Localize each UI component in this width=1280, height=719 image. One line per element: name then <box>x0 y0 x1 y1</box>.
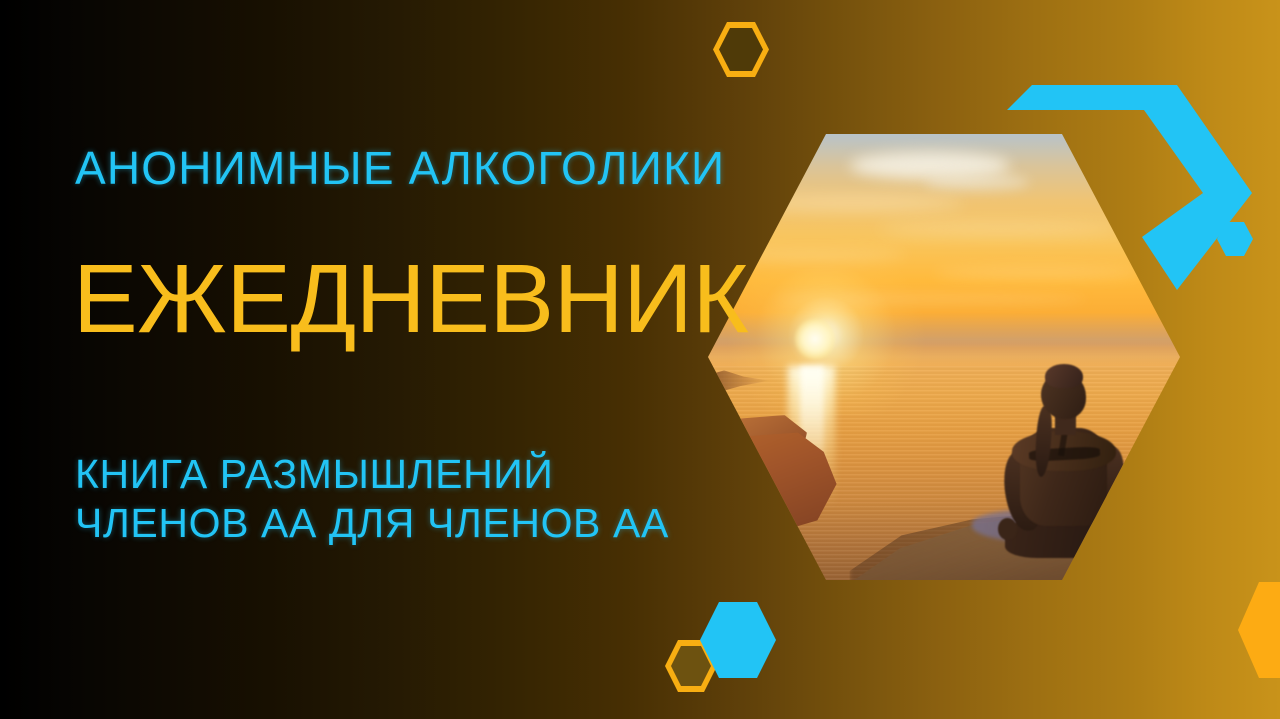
figure-hand <box>998 518 1017 540</box>
page-title: ЕЖЕДНЕВНИК <box>73 250 748 347</box>
poster-eyebrow: АНОНИМНЫЕ АЛКОГОЛИКИ <box>75 141 725 195</box>
poster-subtitle: КНИГА РАЗМЫШЛЕНИЙ ЧЛЕНОВ АА ДЛЯ ЧЛЕНОВ А… <box>75 450 669 548</box>
hexagon-outline-icon-top <box>713 22 769 77</box>
hexagon-icon-orange-right <box>1238 582 1280 678</box>
poster-canvas: АНОНИМНЫЕ АЛКОГОЛИКИ ЕЖЕДНЕВНИК КНИГА РА… <box>0 0 1280 719</box>
chevron-hexagon-icon <box>1007 85 1252 290</box>
poster-subtitle-line-1: КНИГА РАЗМЫШЛЕНИЙ <box>75 450 669 499</box>
figure-hair-bun <box>1045 364 1083 389</box>
poster-subtitle-line-2: ЧЛЕНОВ АА ДЛЯ ЧЛЕНОВ АА <box>75 499 669 548</box>
